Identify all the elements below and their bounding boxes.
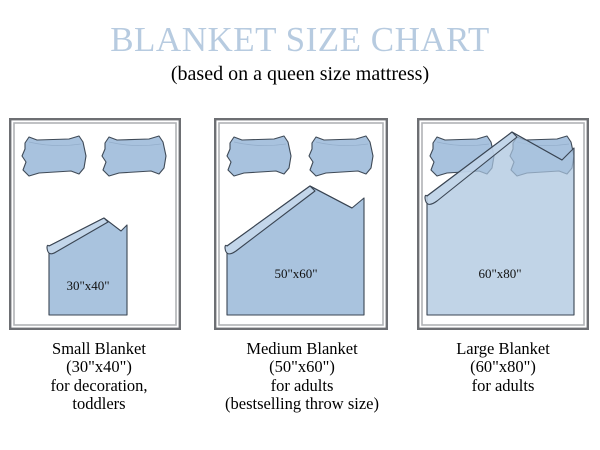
caption-dimensions: (50"x60") xyxy=(199,358,405,376)
caption-large-blanket: Large Blanket (60"x80") for adults xyxy=(406,340,600,395)
bed-diagram-large: 60"x80" xyxy=(417,118,589,330)
blanket-size-chart-page: BLANKET SIZE CHART (based on a queen siz… xyxy=(0,0,600,450)
caption-name: Large Blanket xyxy=(406,340,600,358)
caption-line-4: (bestselling throw size) xyxy=(199,395,405,413)
caption-line-3: for decoration, xyxy=(0,377,198,395)
bed-diagram-small: 30"x40" xyxy=(9,118,181,330)
pillow-right xyxy=(102,136,166,176)
pillow-left xyxy=(227,136,291,176)
bed-frame-small: 30"x40" xyxy=(9,118,181,330)
caption-name: Small Blanket xyxy=(0,340,198,358)
page-title: BLANKET SIZE CHART xyxy=(0,22,600,59)
caption-medium-blanket: Medium Blanket (50"x60") for adults (bes… xyxy=(199,340,405,414)
caption-dimensions: (60"x80") xyxy=(406,358,600,376)
caption-dimensions: (30"x40") xyxy=(0,358,198,376)
bed-diagram-medium: 50"x60" xyxy=(214,118,388,330)
bed-frame-large: 60"x80" xyxy=(417,118,589,330)
pillow-left xyxy=(22,136,86,176)
caption-line-3: for adults xyxy=(199,377,405,395)
page-subtitle: (based on a queen size mattress) xyxy=(0,63,600,85)
caption-line-3: for adults xyxy=(406,377,600,395)
chart-header: BLANKET SIZE CHART (based on a queen siz… xyxy=(0,22,600,85)
blanket-size-label: 30"x40" xyxy=(66,278,109,293)
caption-small-blanket: Small Blanket (30"x40") for decoration, … xyxy=(0,340,198,414)
caption-line-4: toddlers xyxy=(0,395,198,413)
blanket-size-label: 60"x80" xyxy=(478,266,521,281)
bed-frame-medium: 50"x60" xyxy=(214,118,388,330)
caption-name: Medium Blanket xyxy=(199,340,405,358)
bed-diagram-row: 30"x40" xyxy=(0,118,600,333)
blanket-size-label: 50"x60" xyxy=(274,266,317,281)
caption-row: Small Blanket (30"x40") for decoration, … xyxy=(0,340,600,435)
pillow-right xyxy=(309,136,373,176)
